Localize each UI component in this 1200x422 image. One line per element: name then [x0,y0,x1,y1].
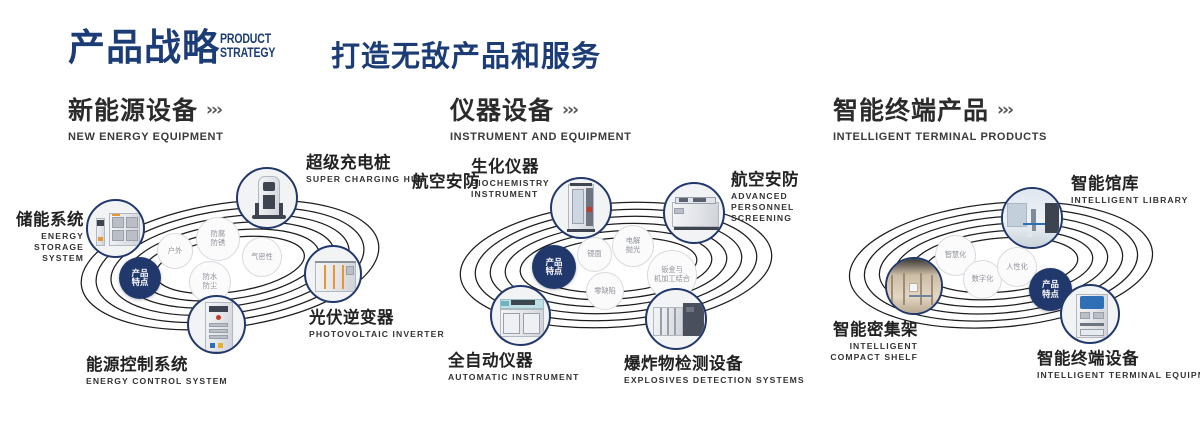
label-automatic-instrument: 全自动仪器 AUTOMATIC INSTRUMENT [448,351,579,383]
node-explosives-detection-systems[interactable] [645,288,707,350]
page-title: 产品战略 [68,26,220,70]
cluster-instruments: 镜面 电解 抛光 钣金与 机加工结合 零缺陷 产品特点 航空安防 生化仪器 BI… [420,155,810,370]
pv-inverter-cabinet-icon [306,247,360,301]
node-label-en: ADVANCED PERSONNEL SCREENING [731,191,823,224]
node-super-charging-hub[interactable] [236,167,298,229]
node-label-cn: 智能密集架 [818,320,918,340]
automatic-analyzer-icon [492,287,549,344]
control-cabinet-icon [189,297,244,352]
feature-bubble: 户外 [157,233,193,269]
node-label-cn: 超级充电桩 [306,153,426,173]
section-title-cn: 新能源设备››› [68,95,223,126]
node-automatic-instrument[interactable] [490,285,551,346]
label-aviation-security-left: 航空安防 [412,172,480,192]
charging-pile-icon [238,169,296,227]
smart-library-room-icon [1003,189,1061,247]
node-label-cn: 能源控制系统 [86,355,228,375]
personnel-screening-machine-icon [665,184,723,242]
section-header-new-energy: 新能源设备››› NEW ENERGY EQUIPMENT [68,95,223,143]
chevron-right-icon: ››› [206,95,221,125]
node-label-cn: 爆炸物检测设备 [624,354,805,374]
feature-bubble: 防腐 防锈 [196,217,240,261]
node-label-cn: 智能馆库 [1071,174,1189,194]
section-title-en: NEW ENERGY EQUIPMENT [68,131,223,143]
node-intelligent-compact-shelf[interactable] [885,257,943,315]
label-energy-storage-system: 储能系统 ENERGY STORAGE SYSTEM [0,210,84,264]
label-intelligent-terminal-equipment: 智能终端设备 INTELLIGENT TERMINAL EQUIPMENT [1037,349,1200,381]
core-bubble-product-features: 产品特点 [119,257,161,299]
core-bubble-product-features: 产品特点 [532,245,576,289]
feature-bubble: 镜面 [577,237,612,272]
node-label-en: SUPER CHARGING HUB [306,174,426,185]
label-intelligent-library: 智能馆库 INTELLIGENT LIBRARY [1071,174,1189,206]
label-energy-control-system: 能源控制系统 ENERGY CONTROL SYSTEM [86,355,228,387]
node-label-cn: 智能终端设备 [1037,349,1200,369]
node-label-cn: 航空安防 [731,170,823,190]
node-label-en: ENERGY STORAGE SYSTEM [0,231,84,264]
node-biochemistry-instrument[interactable] [550,177,612,239]
page-title-english: PRODUCT STRATEGY [220,32,275,60]
node-photovoltaic-inverter[interactable] [304,245,362,303]
label-explosives-detection-systems: 爆炸物检测设备 EXPLOSIVES DETECTION SYSTEMS [624,354,805,386]
node-label-en: ENERGY CONTROL SYSTEM [86,376,228,387]
node-energy-control-system[interactable] [187,295,246,354]
chevron-right-icon: ››› [997,95,1012,125]
self-service-kiosk-icon [1062,286,1118,342]
section-header-instruments: 仪器设备››› INSTRUMENT AND EQUIPMENT [450,95,631,143]
explosives-detector-icon [647,290,705,348]
section-title-en: INTELLIGENT TERMINAL PRODUCTS [833,131,1047,143]
page-title-english-line1: PRODUCT [220,32,275,46]
node-label-en: INTELLIGENT TERMINAL EQUIPMENT [1037,370,1200,381]
node-intelligent-library[interactable] [1001,187,1063,249]
node-label-cn: 储能系统 [0,210,84,230]
feature-bubble: 气密性 [242,237,282,277]
node-label-en: INTELLIGENT LIBRARY [1071,195,1189,206]
node-label-en: INTELLIGENT COMPACT SHELF [818,341,918,363]
node-intelligent-terminal-equipment[interactable] [1060,284,1120,344]
label-intelligent-compact-shelf: 智能密集架 INTELLIGENT COMPACT SHELF [818,320,918,363]
page-subtitle: 打造无敌产品和服务 [331,33,601,75]
feature-bubble: 电解 抛光 [612,225,654,267]
node-label-cn: 航空安防 [412,172,480,192]
node-energy-storage-system[interactable] [86,199,145,258]
node-advanced-personnel-screening[interactable] [663,182,725,244]
node-label-en: AUTOMATIC INSTRUMENT [448,372,579,383]
node-label-cn: 生化仪器 [471,157,539,177]
product-strategy-infographic: 产品战略 PRODUCT STRATEGY 打造无敌产品和服务 新能源设备›››… [0,0,1200,422]
section-header-intelligent-terminal: 智能终端产品››› INTELLIGENT TERMINAL PRODUCTS [833,95,1047,143]
energy-storage-cabinet-icon [88,201,143,256]
cluster-new-energy: 户外 防腐 防锈 气密性 防水 防尘 产品特点 储能系统 ENERGY STOR… [40,155,420,370]
section-title-cn: 智能终端产品››› [833,95,1047,126]
node-label-en: EXPLOSIVES DETECTION SYSTEMS [624,375,805,386]
compact-shelving-icon [887,259,941,313]
page-title-english-line2: STRATEGY [220,46,275,60]
label-super-charging-hub: 超级充电桩 SUPER CHARGING HUB [306,153,426,185]
label-biochemistry-instrument: 生化仪器 BIOCHEMISTRY INSTRUMENT [471,157,539,200]
label-advanced-personnel-screening: 航空安防 ADVANCED PERSONNEL SCREENING [731,170,823,224]
feature-bubble: 零缺陷 [586,272,624,310]
page-header: 产品战略 PRODUCT STRATEGY 打造无敌产品和服务 [0,0,1200,92]
section-title-en: INSTRUMENT AND EQUIPMENT [450,131,631,143]
cluster-intelligent-terminal: 智慧化 数字化 人性化 产品特点 智能馆库 INTELLIGENT LIBRAR… [815,155,1195,370]
node-label-en: BIOCHEMISTRY INSTRUMENT [471,178,527,200]
node-label-cn: 全自动仪器 [448,351,579,371]
section-title-cn: 仪器设备››› [450,95,631,126]
chevron-right-icon: ››› [562,95,577,125]
biochemistry-scanner-icon [552,179,610,237]
